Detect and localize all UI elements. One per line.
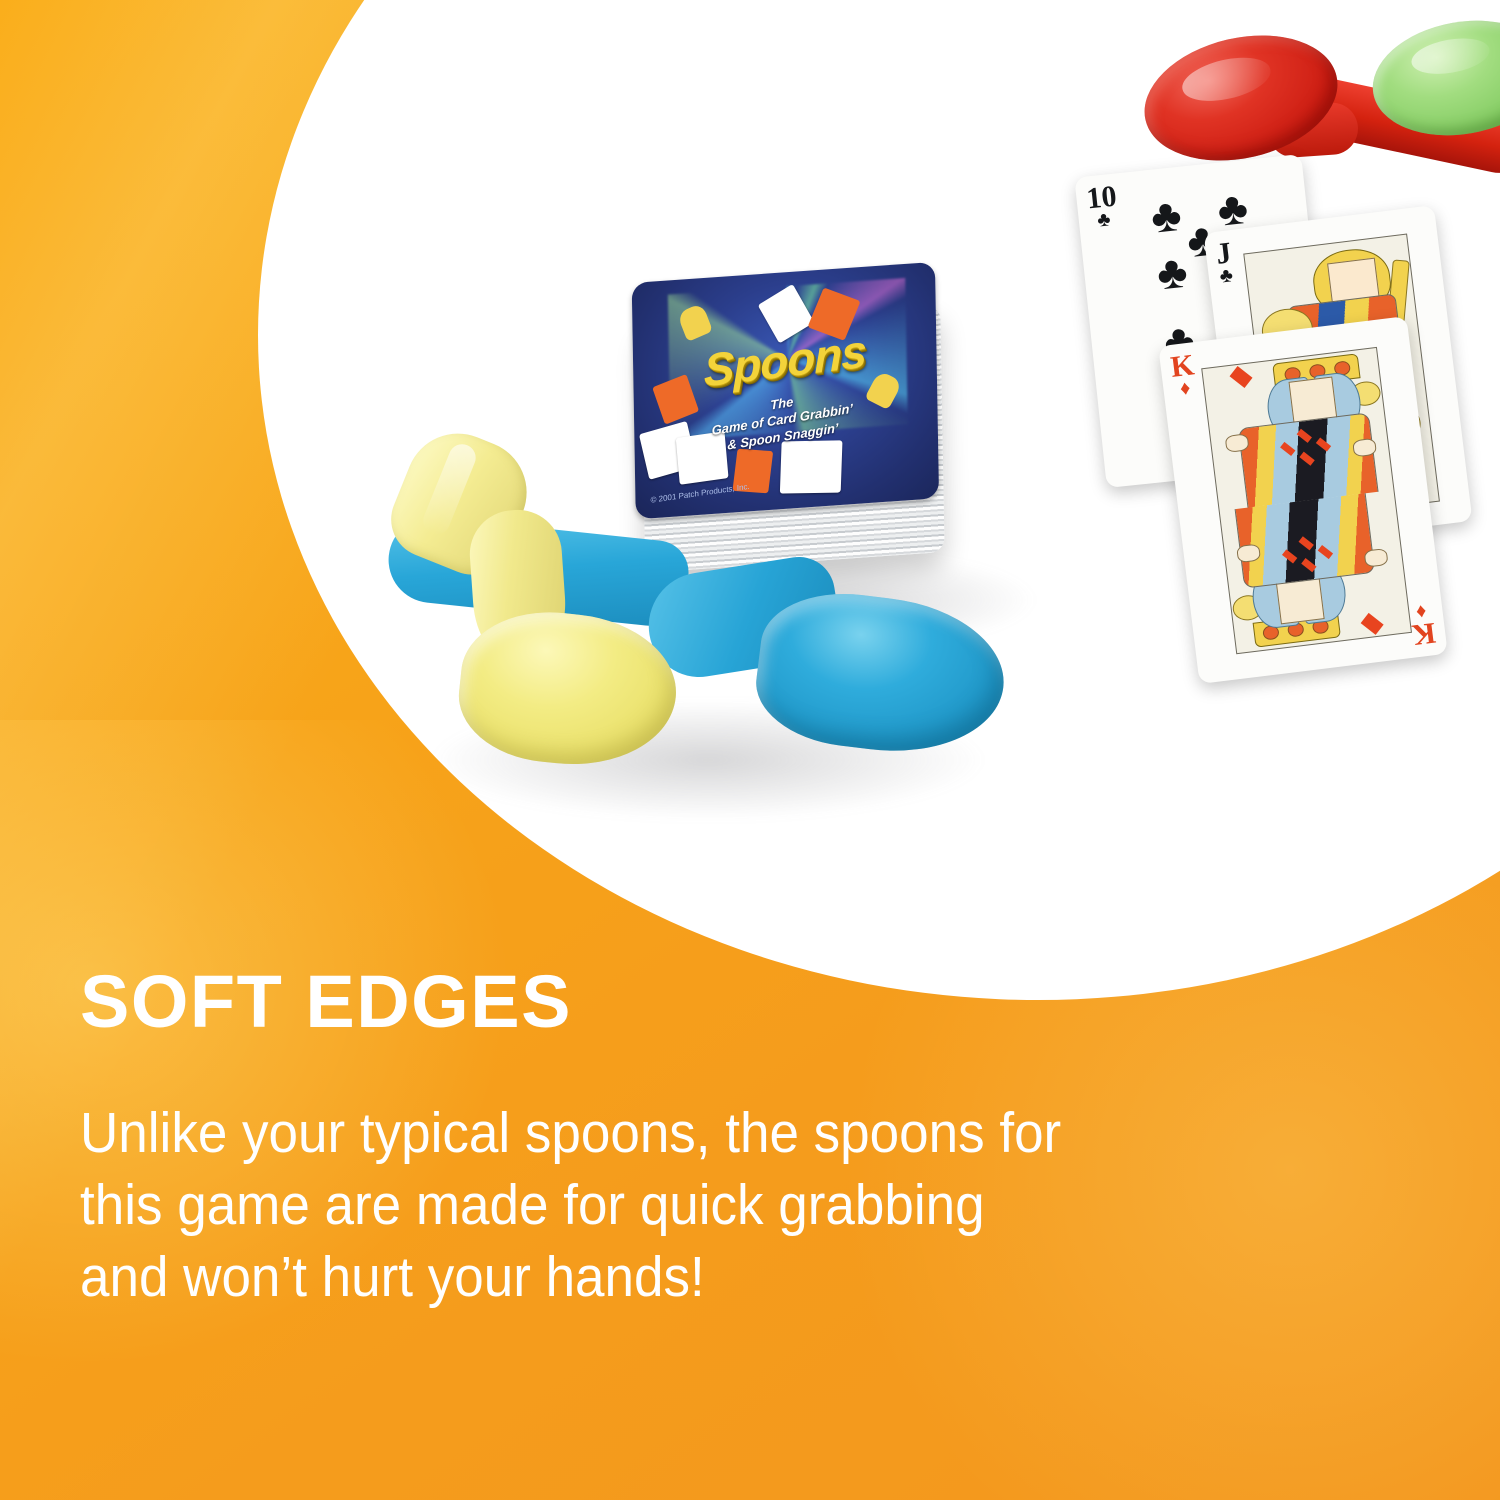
club-icon: ♣ [1149,190,1184,239]
description-text: Unlike your typical spoons, the spoons f… [80,1098,1270,1313]
court-half-bottom [1220,490,1411,653]
playing-card-king-of-diamonds: K ♦ K ♦ [1158,316,1448,684]
court-card-art [1201,347,1412,654]
king-hand-left [1364,548,1389,568]
king-robe [1235,491,1376,588]
card-index-top-left: K ♦ [1169,350,1198,399]
club-icon: ♣ [1155,248,1190,297]
description-line-1: Unlike your typical spoons, the spoons f… [80,1098,1270,1170]
marketing-image: 10 ♣ ♣ ♣ ♣ ♣ ♣ ♣ ♣ ♣ ♣ ♣ [0,0,1500,1500]
product-photo: 10 ♣ ♣ ♣ ♣ ♣ ♣ ♣ ♣ ♣ ♣ ♣ [258,0,1500,1000]
card-index-top-left: J ♣ [1214,238,1235,286]
product-photo-panel: 10 ♣ ♣ ♣ ♣ ♣ ♣ ♣ ♣ ♣ ♣ ♣ [258,0,1500,1000]
deck-card-back: Spoons The Game of Card Grabbin’ & Spoon… [632,262,939,519]
deck-copyright: © 2001 Patch Products, Inc. [651,482,750,505]
diamond-icon [1230,366,1253,388]
page-title: SOFT EDGES [80,965,572,1039]
club-icon: ♣ [1215,183,1250,232]
spoons-card-deck: Spoons The Game of Card Grabbin’ & Spoon… [626,261,965,594]
court-half-top [1202,348,1393,511]
deck-art-mini-card [780,440,842,493]
diamond-icon [1360,613,1383,635]
description-line-3: and won’t hurt your hands! [80,1242,1270,1314]
card-index-bottom-right: K ♦ [1408,600,1437,649]
deck-tagline-line1: The [770,394,793,413]
description-line-2: this game are made for quick grabbing [80,1170,1270,1242]
